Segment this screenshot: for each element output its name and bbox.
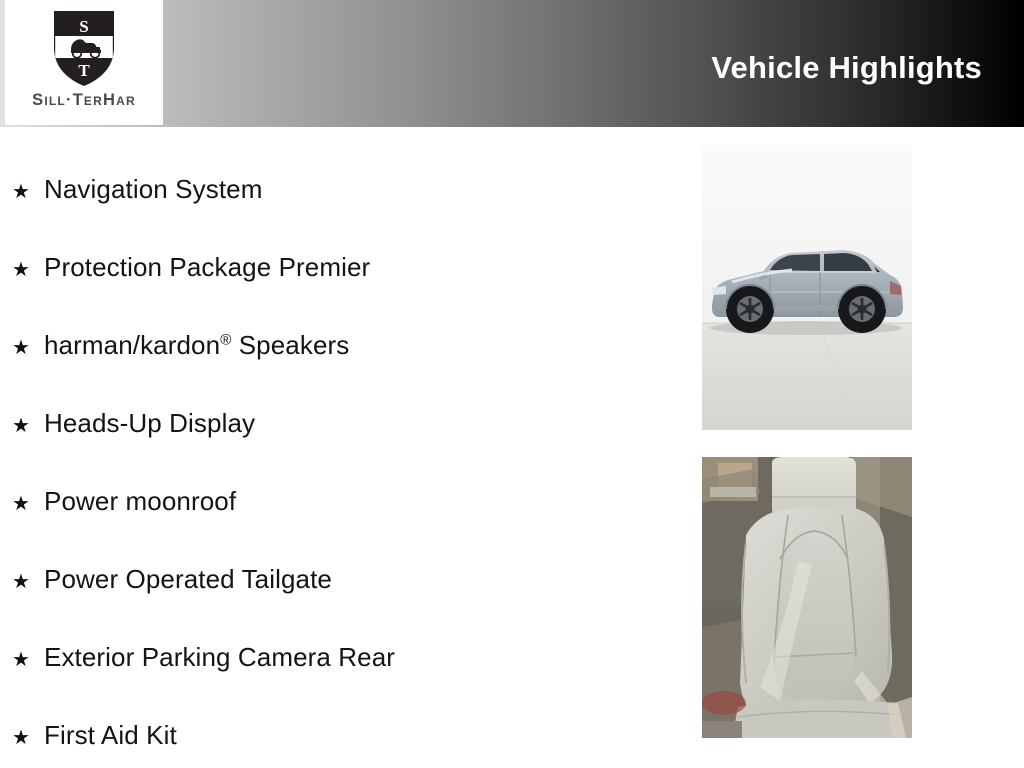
- star-icon: ★: [12, 465, 44, 543]
- list-item: ★ First Aid Kit: [12, 696, 662, 768]
- page-title: Vehicle Highlights: [711, 50, 982, 86]
- list-item: ★ Navigation System: [12, 150, 662, 228]
- list-item: ★ Protection Package Premier: [12, 228, 662, 306]
- list-item-label: Protection Package Premier: [44, 228, 370, 306]
- vehicle-exterior-image: [702, 145, 912, 430]
- list-item-label: First Aid Kit: [44, 696, 177, 768]
- registered-trademark-icon: ®: [220, 331, 231, 348]
- vehicle-highlights-list: ★ Navigation System ★ Protection Package…: [12, 150, 662, 768]
- list-item-label: Heads-Up Display: [44, 384, 255, 462]
- star-icon: ★: [12, 231, 44, 309]
- shield-emblem-icon: S T: [51, 8, 117, 88]
- list-item-label: Power Operated Tailgate: [44, 540, 332, 618]
- list-item-label: Navigation System: [44, 150, 262, 228]
- star-icon: ★: [12, 543, 44, 621]
- dealer-wordmark: Sill·TerHar: [32, 92, 136, 109]
- star-icon: ★: [12, 153, 44, 231]
- svg-text:T: T: [78, 61, 90, 80]
- vehicle-interior-image: [702, 457, 912, 738]
- list-item: ★ Power moonroof: [12, 462, 662, 540]
- star-icon: ★: [12, 309, 44, 387]
- star-icon: ★: [12, 699, 44, 768]
- list-item-label: Power moonroof: [44, 462, 236, 540]
- list-item: ★ Power Operated Tailgate: [12, 540, 662, 618]
- slide-root: Vehicle Highlights S T Sill·TerHar ★ Nav…: [0, 0, 1024, 768]
- vehicle-interior-photo[interactable]: [702, 457, 912, 738]
- star-icon: ★: [12, 621, 44, 699]
- list-item: ★ Exterior Parking Camera Rear: [12, 618, 662, 696]
- dealer-logo[interactable]: S T Sill·TerHar: [5, 0, 163, 125]
- svg-text:S: S: [79, 17, 88, 36]
- vehicle-exterior-photo[interactable]: [702, 145, 912, 430]
- list-item-label: harman/kardon® Speakers: [44, 306, 349, 384]
- list-item-label-main: harman/kardon: [44, 330, 220, 360]
- star-icon: ★: [12, 387, 44, 465]
- list-item: ★ Heads-Up Display: [12, 384, 662, 462]
- list-item-label: Exterior Parking Camera Rear: [44, 618, 395, 696]
- list-item: ★ harman/kardon® Speakers: [12, 306, 662, 384]
- list-item-label-tail: Speakers: [231, 330, 349, 360]
